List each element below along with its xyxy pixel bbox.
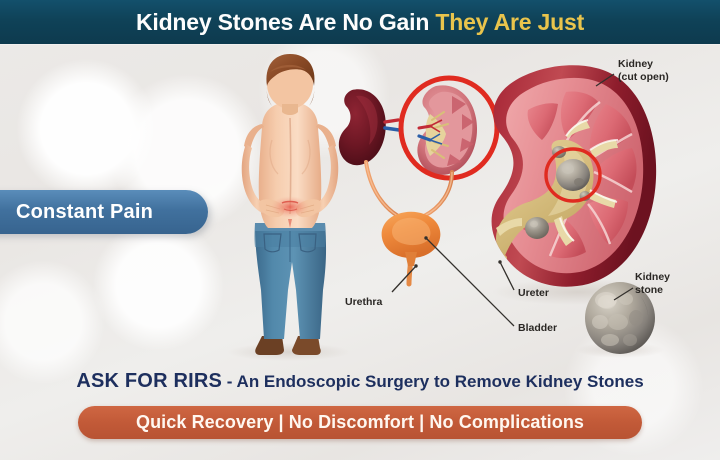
label-urethra: Urethra xyxy=(345,296,382,309)
header-title-gold: They Are Just xyxy=(435,9,584,35)
label-kidney-cut-open: Kidney (cut open) xyxy=(618,58,669,83)
header-title-white: Kidney Stones Are No Gain xyxy=(136,9,429,35)
header-title: Kidney Stones Are No Gain They Are Just xyxy=(136,9,584,36)
cta-line: ASK FOR RIRS - An Endoscopic Surgery to … xyxy=(0,370,720,393)
infographic-poster: Kidney Stones Are No Gain They Are Just … xyxy=(0,0,720,460)
label-kidney-cut-open-line1: Kidney xyxy=(618,58,669,71)
cta-rest: - An Endoscopic Surgery to Remove Kidney… xyxy=(222,372,644,391)
label-kidney-stone-line2: stone xyxy=(635,284,670,297)
label-kidney-stone: Kidney stone xyxy=(635,271,670,296)
leader-kidney-cut-open xyxy=(596,74,614,86)
label-ureter: Ureter xyxy=(518,287,549,300)
benefits-text: Quick Recovery | No Discomfort | No Comp… xyxy=(136,412,584,433)
cta-strong: ASK FOR RIRS xyxy=(76,370,222,392)
label-kidney-stone-line1: Kidney xyxy=(635,271,670,284)
label-kidney-cut-open-line2: (cut open) xyxy=(618,71,669,84)
benefits-banner: Quick Recovery | No Discomfort | No Comp… xyxy=(78,406,642,439)
constant-pain-label: Constant Pain xyxy=(16,201,153,224)
leader-ureter xyxy=(500,262,514,290)
label-bladder: Bladder xyxy=(518,322,557,335)
header-bar: Kidney Stones Are No Gain They Are Just xyxy=(0,0,720,44)
leader-bladder xyxy=(426,238,514,326)
constant-pain-badge: Constant Pain xyxy=(0,190,208,234)
leader-kidney-stone xyxy=(614,288,633,300)
leader-urethra xyxy=(392,266,416,292)
